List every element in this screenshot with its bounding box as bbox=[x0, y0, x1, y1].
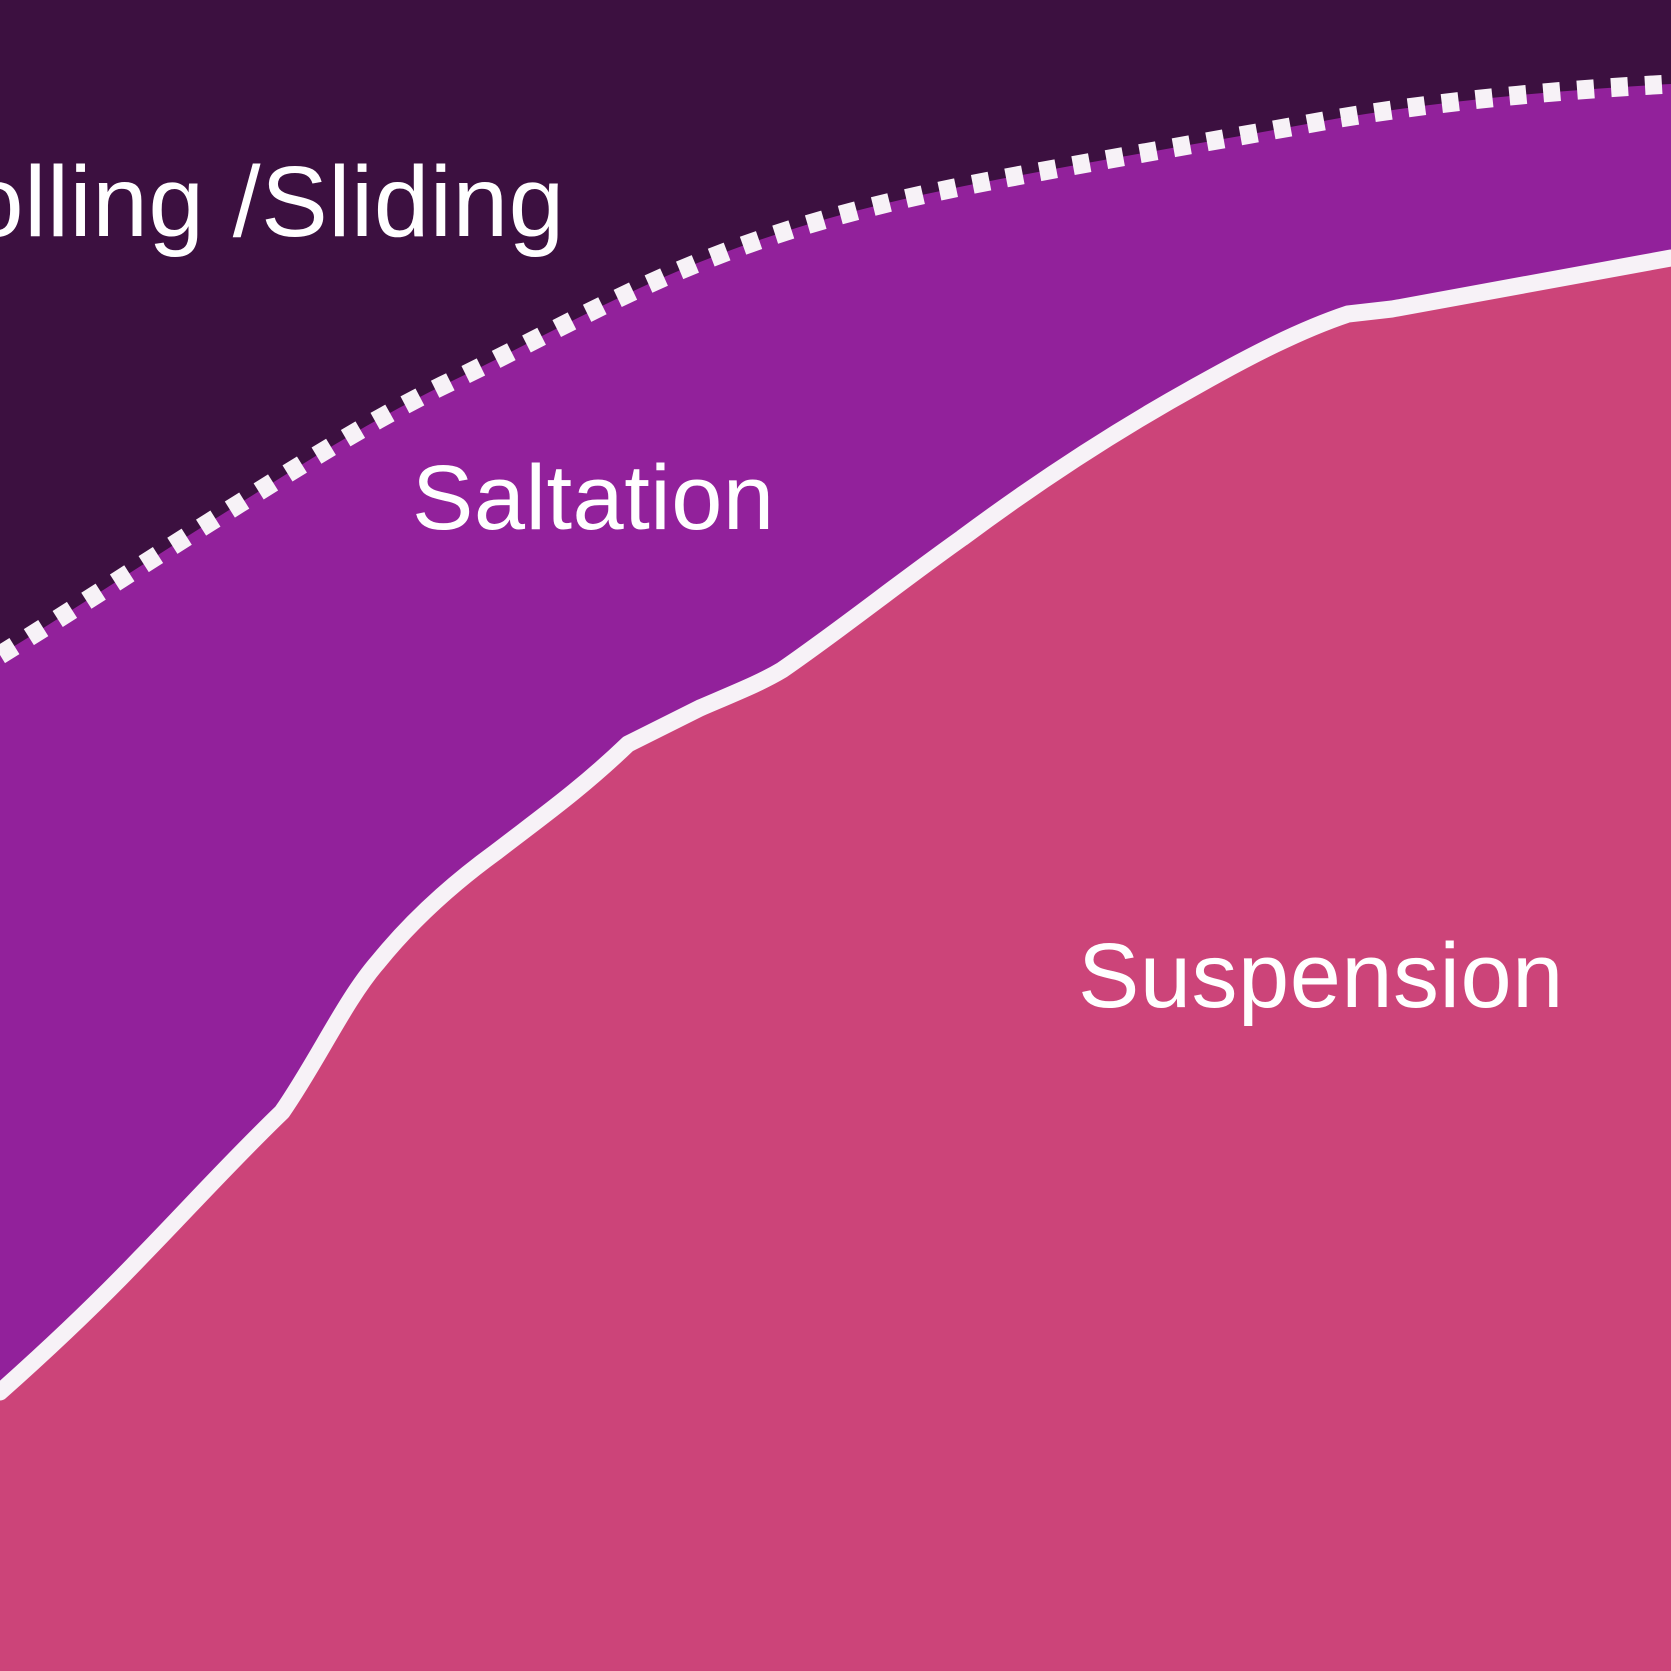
diagram-canvas: olling /Sliding Saltation Suspension bbox=[0, 0, 1671, 1671]
transport-zones-svg bbox=[0, 0, 1671, 1671]
